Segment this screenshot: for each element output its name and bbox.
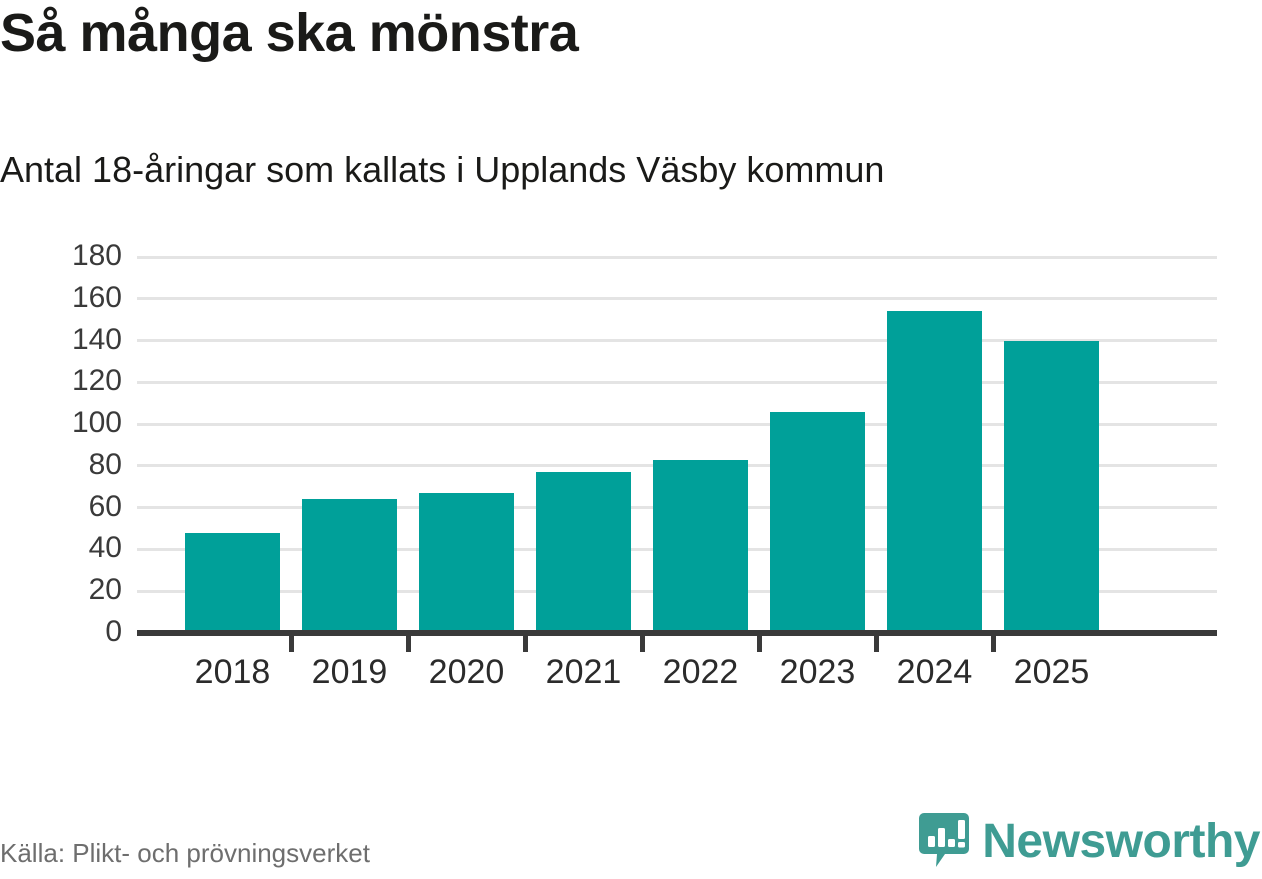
y-axis-tick-label: 40	[89, 533, 122, 563]
newsworthy-logo[interactable]: Newsworthy	[918, 813, 1260, 871]
bar-2025[interactable]	[1004, 341, 1099, 633]
y-axis-tick-label: 0	[105, 617, 122, 647]
x-axis-tick-label: 2018	[185, 655, 280, 689]
x-axis-tick-mark	[523, 636, 528, 652]
gridline	[137, 256, 1217, 259]
x-axis-tick-mark	[874, 636, 879, 652]
y-axis-tick-label: 120	[72, 366, 122, 396]
bar-2020[interactable]	[419, 493, 514, 633]
y-axis-tick-label: 80	[89, 450, 122, 480]
logo-wordmark: Newsworthy	[982, 818, 1260, 866]
x-axis-tick-label: 2019	[302, 655, 397, 689]
source-note: Källa: Plikt- och prövningsverket	[0, 840, 370, 866]
x-axis-tick-label: 2024	[887, 655, 982, 689]
x-axis-line	[137, 630, 1217, 636]
bar-2019[interactable]	[302, 499, 397, 633]
x-axis-tick-mark	[289, 636, 294, 652]
gridline	[137, 297, 1217, 300]
y-axis-tick-label: 180	[72, 241, 122, 271]
page-title: Så många ska mönstra	[0, 6, 578, 60]
x-axis-tick-label: 2022	[653, 655, 748, 689]
y-axis-tick-label: 60	[89, 492, 122, 522]
chart-plot-area: 020406080100120140160180 201820192020202…	[0, 230, 1262, 650]
y-axis-tick-label: 140	[72, 325, 122, 355]
bar-2024[interactable]	[887, 311, 982, 633]
y-axis-tick-label: 100	[72, 408, 122, 438]
x-axis-tick-label: 2025	[1004, 655, 1099, 689]
x-axis-tick-mark	[406, 636, 411, 652]
x-axis-tick-mark	[991, 636, 996, 652]
x-axis-tick-label: 2021	[536, 655, 631, 689]
x-axis-tick-mark	[640, 636, 645, 652]
bar-chart-speech-bubble-icon	[918, 812, 970, 873]
bar-2018[interactable]	[185, 533, 280, 633]
y-axis-tick-label: 20	[89, 575, 122, 605]
bar-2023[interactable]	[770, 412, 865, 633]
bar-2022[interactable]	[653, 460, 748, 633]
bar-2021[interactable]	[536, 472, 631, 633]
y-axis-tick-label: 160	[72, 283, 122, 313]
x-axis-tick-mark	[757, 636, 762, 652]
x-axis-tick-label: 2023	[770, 655, 865, 689]
x-axis-tick-label: 2020	[419, 655, 514, 689]
chart-subtitle: Antal 18-åringar som kallats i Upplands …	[0, 152, 884, 188]
